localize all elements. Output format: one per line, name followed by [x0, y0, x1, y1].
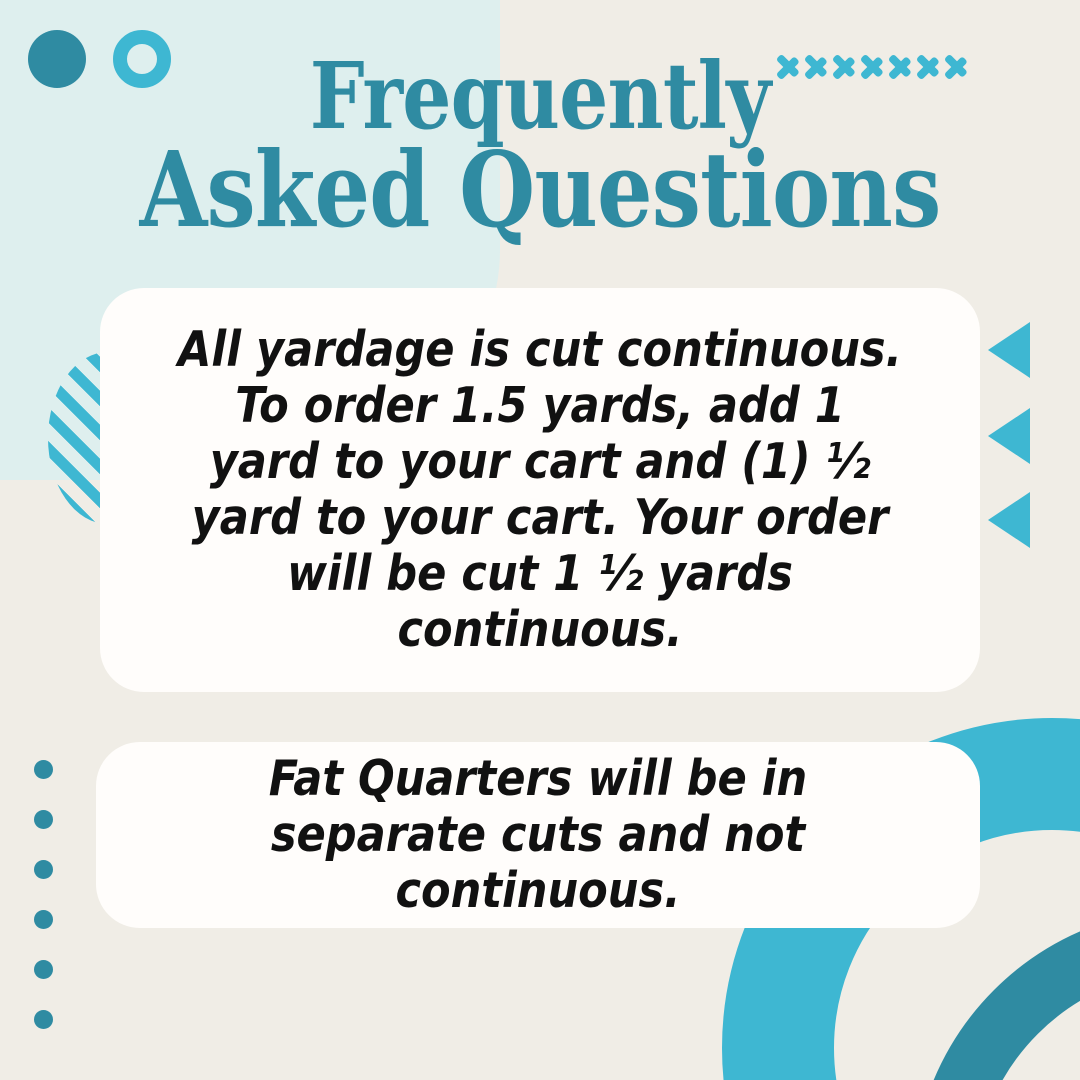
quarter-arc-icon-outer	[912, 908, 1080, 1080]
dot-icon	[34, 960, 53, 979]
dot-icon	[34, 860, 53, 879]
dot-icon	[34, 910, 53, 929]
page-title: Frequently Asked Questions	[86, 52, 993, 240]
dot-column-decoration	[34, 760, 53, 1029]
dot-icon	[34, 810, 53, 829]
faq-card-fat-quarters: Fat Quarters will be in separate cuts an…	[96, 742, 980, 928]
faq-card-text: All yardage is cut continuous. To order …	[176, 322, 905, 657]
filled-circle-icon	[28, 30, 86, 88]
triangle-left-icon	[988, 492, 1030, 548]
faq-poster: Frequently Asked Questions All yardage i…	[0, 0, 1080, 1080]
faq-card-yardage-continuous: All yardage is cut continuous. To order …	[100, 288, 980, 692]
triangle-left-icon	[988, 408, 1030, 464]
dot-icon	[34, 760, 53, 779]
dot-icon	[34, 1010, 53, 1029]
page-title-line1: Frequently	[86, 52, 993, 140]
faq-card-text: Fat Quarters will be in separate cuts an…	[172, 751, 904, 919]
page-title-line2: Asked Questions	[86, 140, 993, 240]
triangle-left-icon	[988, 322, 1030, 378]
